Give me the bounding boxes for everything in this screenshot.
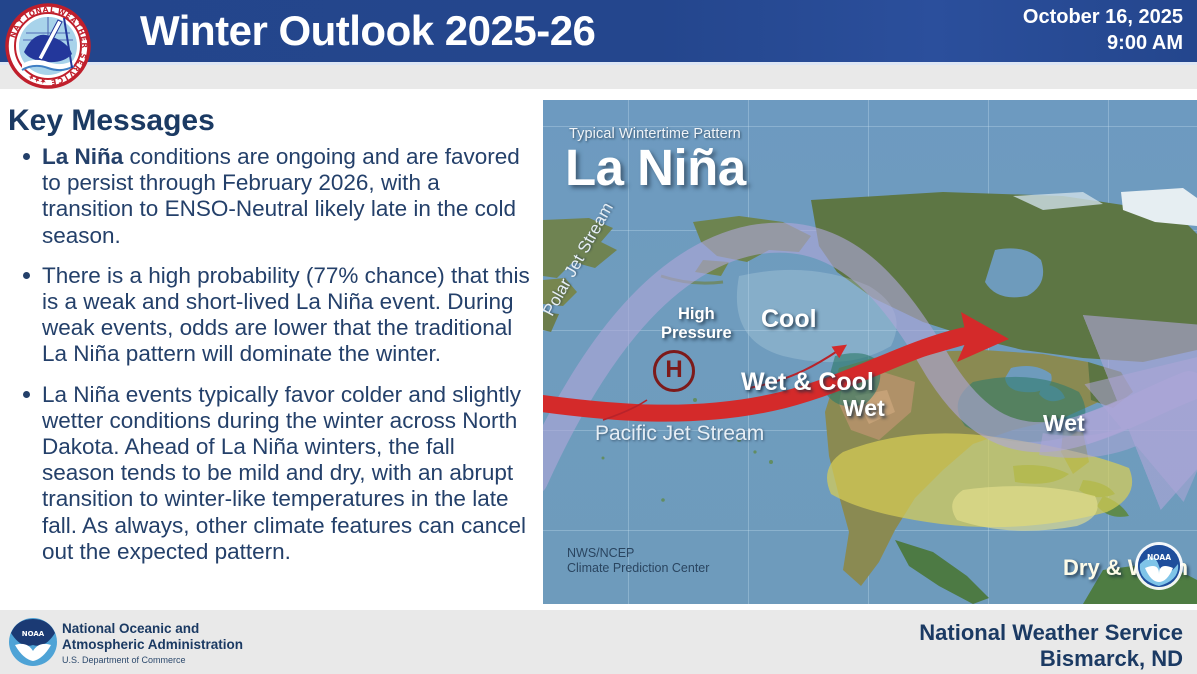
- list-item: La Niña events typically favor colder an…: [16, 382, 532, 565]
- map-credit-line1: NWS/NCEP: [567, 546, 709, 561]
- label-wet-and-cool: Wet & Cool: [741, 368, 874, 397]
- page-footer: NOAA National Oceanic and Atmospheric Ad…: [0, 610, 1197, 674]
- noaa-name-line2: Atmospheric Administration: [62, 637, 243, 653]
- bullet-dot-icon: [23, 153, 30, 160]
- label-pacific-jet-stream: Pacific Jet Stream: [595, 422, 764, 446]
- noaa-agency-name: National Oceanic and Atmospheric Adminis…: [62, 621, 243, 665]
- header-time: 9:00 AM: [1023, 30, 1183, 56]
- header-datetime: October 16, 2025 9:00 AM: [1023, 4, 1183, 56]
- label-wet-ohio-valley: Wet: [1043, 410, 1085, 437]
- high-pressure-line2: Pressure: [661, 324, 732, 343]
- list-item: La Niña conditions are ongoing and are f…: [16, 144, 532, 249]
- key-messages-title: Key Messages: [8, 104, 215, 138]
- bullet-dot-icon: [23, 272, 30, 279]
- svg-text:R: R: [80, 42, 89, 48]
- high-pressure-symbol-icon: H: [653, 350, 695, 392]
- map-credit-line2: Climate Prediction Center: [567, 561, 709, 576]
- nws-seal-icon: N A T I O N A L W E A T H E R S E R V I …: [2, 0, 94, 92]
- bullet-text: There is a high probability (77% chance)…: [42, 263, 530, 367]
- page-header: Winter Outlook 2025-26 October 16, 2025 …: [0, 0, 1197, 62]
- noaa-department: U.S. Department of Commerce: [62, 655, 243, 665]
- nws-office-line2: Bismarck, ND: [919, 646, 1183, 672]
- list-item: There is a high probability (77% chance)…: [16, 263, 532, 368]
- subheader-strip: [0, 65, 1197, 89]
- key-messages-panel: Key Messages La Niña conditions are ongo…: [0, 92, 540, 610]
- noaa-seagull-icon: NOAA: [1133, 540, 1185, 592]
- page-title: Winter Outlook 2025-26: [140, 2, 595, 60]
- noaa-seagull-icon: NOAA: [8, 617, 58, 667]
- bullet-lead: La Niña: [42, 144, 123, 169]
- noaa-name-line1: National Oceanic and: [62, 621, 243, 637]
- label-cool: Cool: [761, 305, 817, 334]
- svg-text:A: A: [42, 5, 49, 14]
- la-nina-pattern-map: Typical Wintertime Pattern La Niña Polar…: [543, 100, 1197, 604]
- nws-office: National Weather Service Bismarck, ND: [919, 620, 1183, 672]
- map-credit: NWS/NCEP Climate Prediction Center: [567, 546, 709, 576]
- bullet-text: La Niña events typically favor colder an…: [42, 382, 526, 564]
- nws-office-line1: National Weather Service: [919, 620, 1183, 646]
- map-title: La Niña: [565, 138, 746, 197]
- label-high-pressure: High Pressure: [661, 305, 732, 343]
- svg-text:NOAA: NOAA: [22, 630, 45, 638]
- high-pressure-line1: High: [661, 305, 732, 324]
- bullet-dot-icon: [23, 391, 30, 398]
- svg-text:NOAA: NOAA: [1147, 553, 1171, 562]
- label-wet-northwest: Wet: [843, 395, 885, 422]
- header-date: October 16, 2025: [1023, 4, 1183, 30]
- key-messages-list: La Niña conditions are ongoing and are f…: [16, 144, 532, 579]
